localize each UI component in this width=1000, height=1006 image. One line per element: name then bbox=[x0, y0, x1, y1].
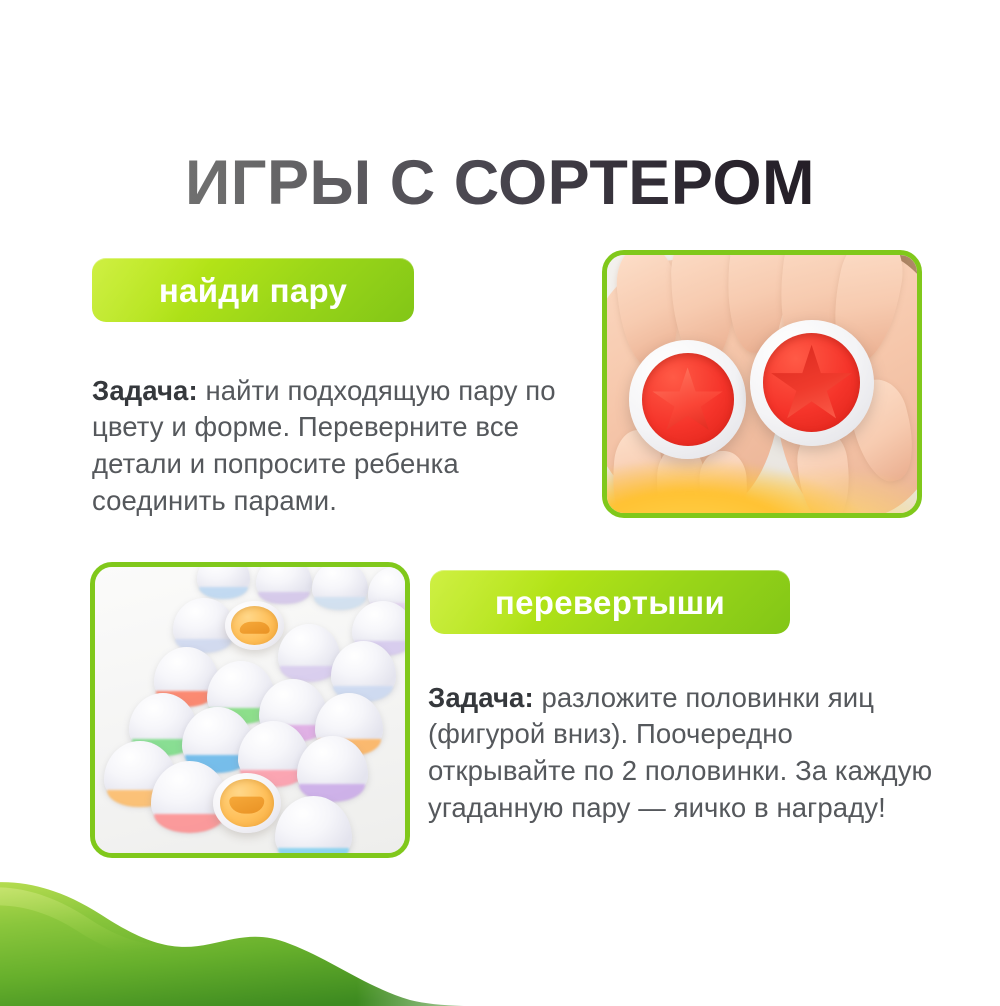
egg-dome bbox=[312, 567, 368, 607]
photo-hands-holding-red-star-sorter-eggs bbox=[602, 250, 922, 518]
photo-white-egg-halves-grid bbox=[90, 562, 410, 858]
badge-flippers-label: перевертыши bbox=[489, 586, 731, 619]
task-label-find-pair: Задача: bbox=[92, 375, 198, 406]
task-description-flippers: Задача: разложите половинки яиц (фигурой… bbox=[428, 680, 938, 827]
cloud-shape-icon bbox=[239, 621, 270, 634]
page-title: ИГРЫ С СОРТЕРОМ bbox=[0, 150, 1000, 216]
egg-dome bbox=[256, 567, 312, 601]
photo-1-yellow-surface bbox=[607, 446, 917, 513]
badge-find-pair-label: найди пару bbox=[153, 274, 353, 307]
egg-dome bbox=[331, 641, 396, 698]
page-root: ИГРЫ С СОРТЕРОМ найди пару Задача: найти… bbox=[0, 0, 1000, 1000]
open-egg-half-orange-lower bbox=[213, 773, 281, 833]
photo-1-inner bbox=[607, 255, 917, 513]
grass-hill-decoration bbox=[0, 866, 600, 1006]
task-description-find-pair: Задача: найти подходящую пару по цвету и… bbox=[92, 373, 582, 520]
red-egg-half-left bbox=[629, 340, 747, 459]
red-egg-half-right bbox=[750, 320, 874, 446]
egg-rim bbox=[278, 848, 349, 853]
task-label-flippers: Задача: bbox=[428, 682, 534, 713]
badge-find-pair: найди пару bbox=[92, 258, 414, 322]
badge-flippers: перевертыши bbox=[430, 570, 790, 634]
photo-2-inner bbox=[95, 567, 405, 853]
egg-dome bbox=[197, 567, 250, 596]
open-egg-half-orange-upper bbox=[225, 601, 284, 650]
